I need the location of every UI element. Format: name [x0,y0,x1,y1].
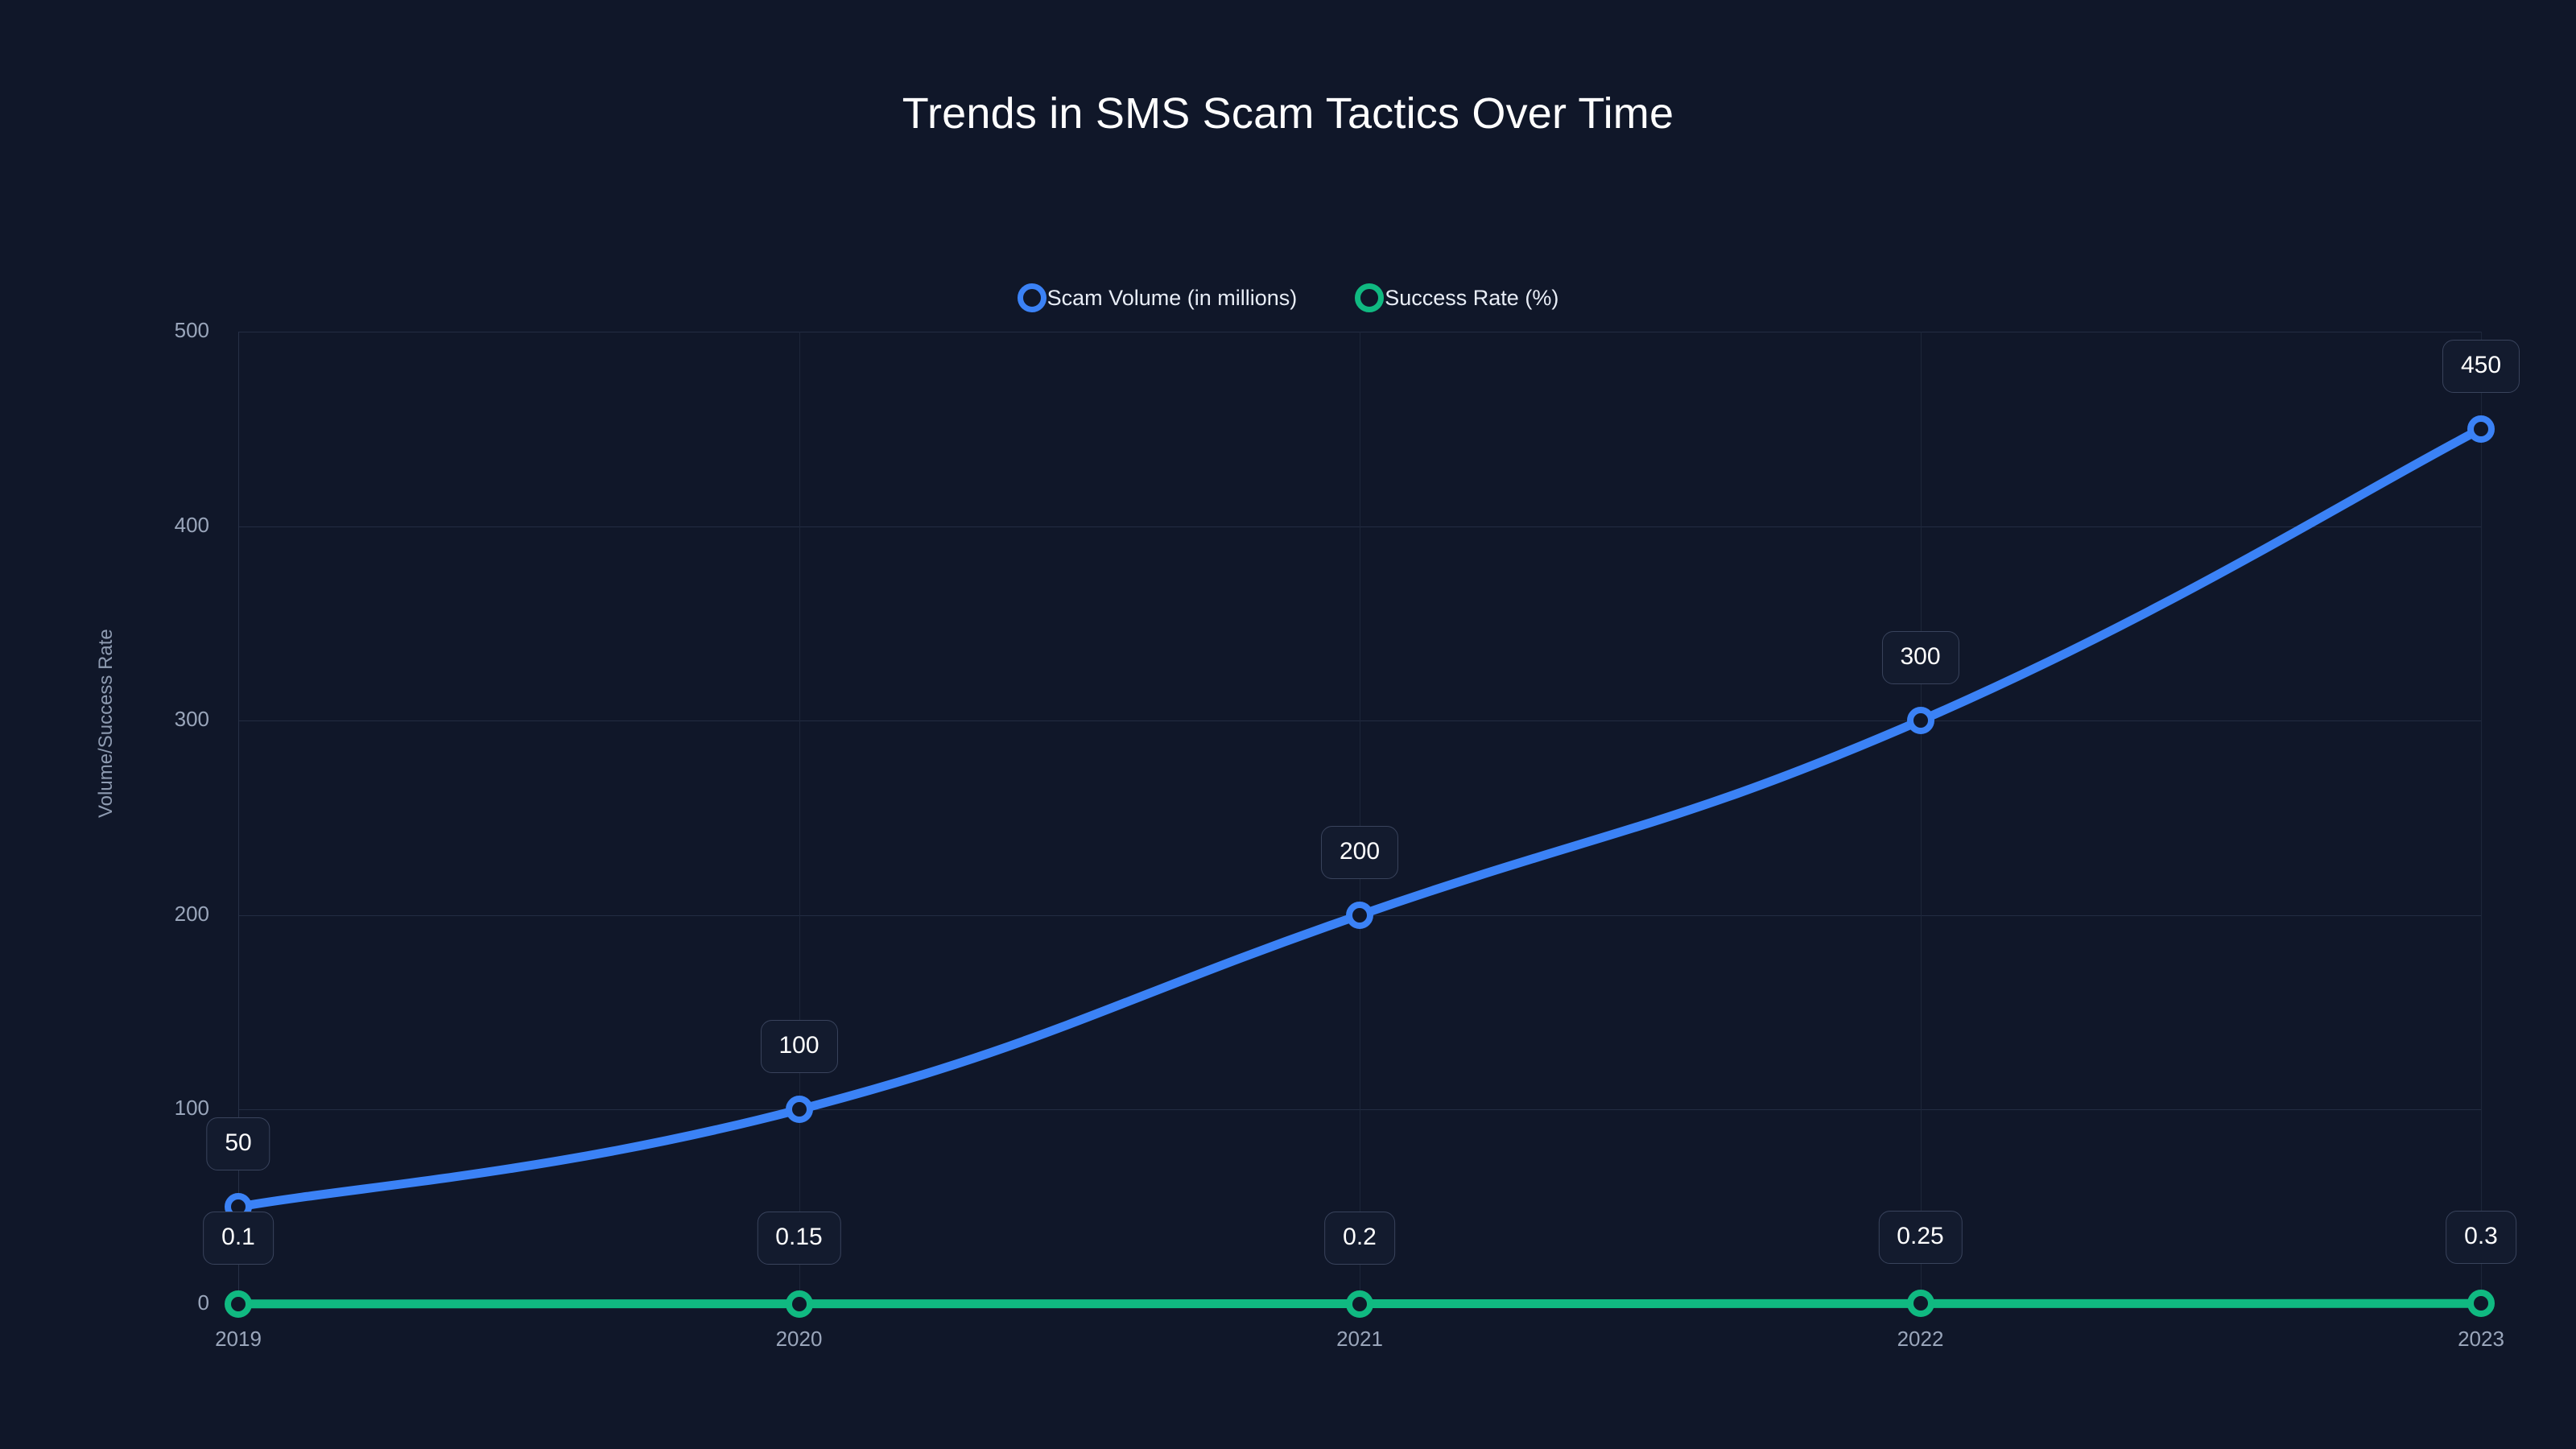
x-axis-tick-label: 2019 [158,1327,319,1352]
legend-label-success-rate: Success Rate (%) [1385,287,1558,309]
plot-area [238,332,2481,1304]
x-axis-tick-label: 2023 [2401,1327,2562,1352]
data-point-label: 450 [2442,340,2520,393]
data-point-label: 100 [760,1020,837,1073]
y-axis-tick-label: 200 [24,902,209,927]
data-point-marker[interactable] [2467,415,2495,443]
chart-title: Trends in SMS Scam Tactics Over Time [0,89,2576,138]
data-point-marker[interactable] [2467,1290,2495,1317]
legend-item-scam-volume[interactable]: Scam Volume (in millions) [1018,283,1298,312]
x-axis-tick-label: 2021 [1279,1327,1440,1352]
legend-label-scam-volume: Scam Volume (in millions) [1047,287,1298,309]
data-point-label: 0.25 [1878,1211,1962,1264]
data-point-label: 50 [206,1117,270,1170]
legend-marker-circle-icon [1355,283,1384,312]
data-point-label: 0.3 [2446,1211,2516,1264]
data-point-marker[interactable] [1346,1290,1373,1318]
chart-legend: Scam Volume (in millions) Success Rate (… [0,283,2576,312]
data-point-label: 300 [1881,631,1959,684]
y-axis-tick-label: 400 [24,513,209,538]
y-axis-tick-label: 0 [24,1290,209,1315]
data-point-marker[interactable] [1346,902,1373,929]
data-point-marker[interactable] [786,1290,813,1318]
data-point-label: 200 [1321,826,1398,879]
y-axis-tick-label: 300 [24,707,209,732]
gridline-vertical [2481,332,2482,1304]
x-axis-tick-label: 2020 [719,1327,880,1352]
data-point-label: 0.1 [203,1212,274,1265]
data-point-marker[interactable] [1907,707,1934,734]
data-point-label: 0.15 [757,1212,840,1265]
series-lines [238,332,2481,1304]
y-axis-tick-label: 100 [24,1096,209,1121]
legend-item-success-rate[interactable]: Success Rate (%) [1355,283,1558,312]
data-point-marker[interactable] [225,1290,252,1318]
data-point-marker[interactable] [1907,1290,1934,1317]
legend-marker-circle-icon [1018,283,1046,312]
chart-container: Trends in SMS Scam Tactics Over Time Sca… [0,0,2576,1449]
data-point-marker[interactable] [786,1096,813,1123]
data-point-label: 0.2 [1324,1212,1395,1265]
x-axis-tick-label: 2022 [1840,1327,2001,1352]
y-axis-tick-label: 500 [24,318,209,343]
series-line-scam-volume [238,429,2481,1207]
